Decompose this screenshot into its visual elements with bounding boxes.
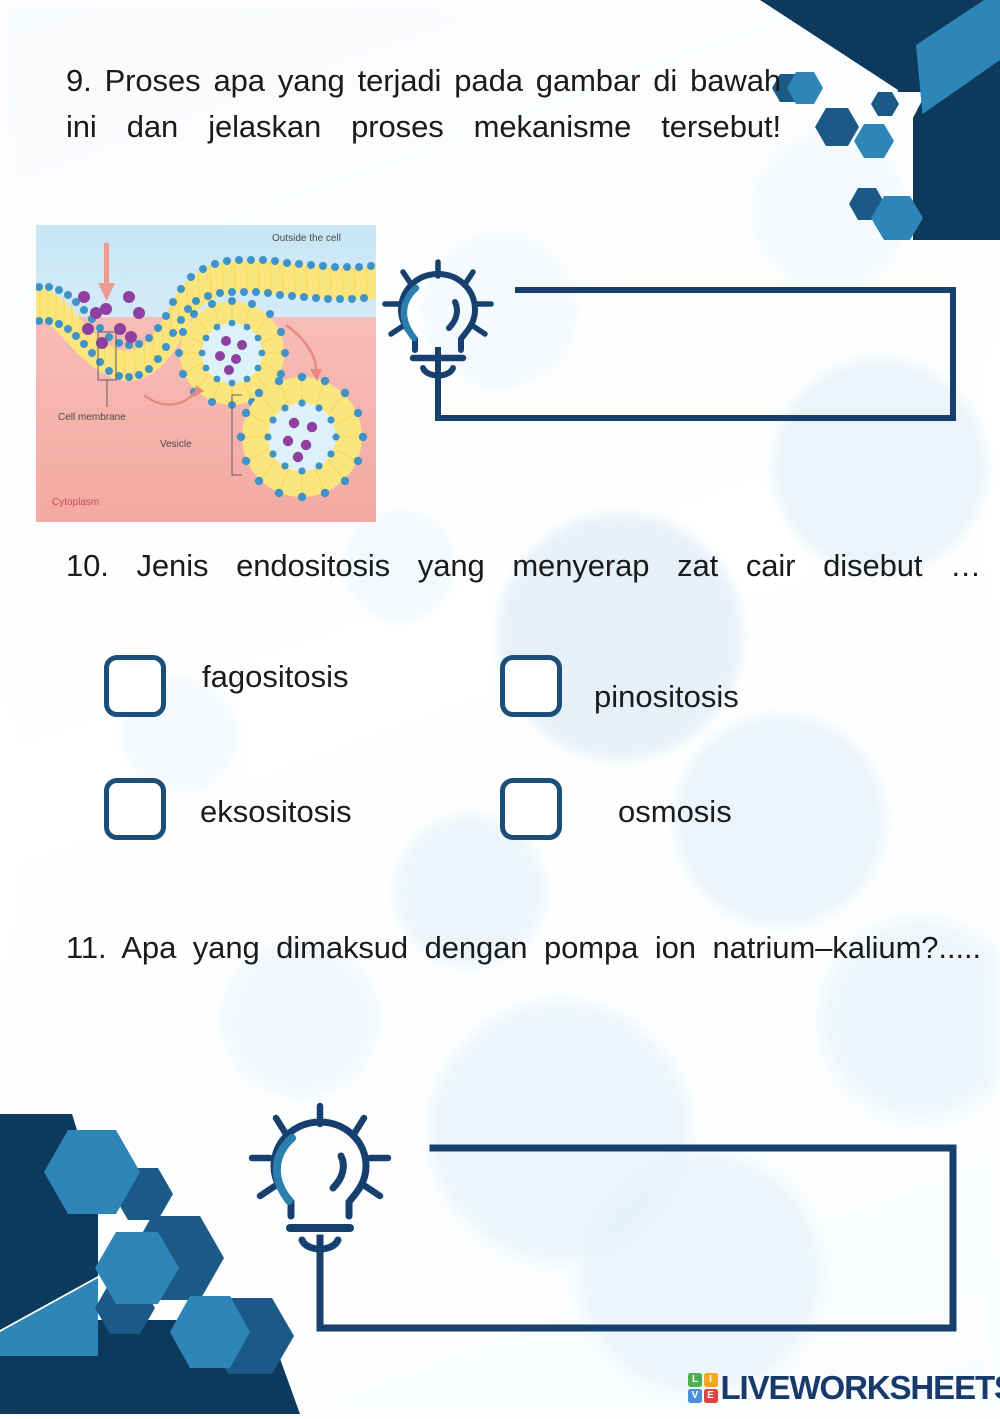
checkbox-pinositosis[interactable]: [500, 655, 562, 717]
lightbulb-icon: [252, 1106, 388, 1249]
checkbox-osmosis[interactable]: [500, 778, 562, 840]
option-fagositosis[interactable]: fagositosis: [104, 655, 500, 717]
liveworksheets-logo[interactable]: L I V E LIVEWORKSHEETS: [688, 1369, 1000, 1407]
logo-tile-v: V: [688, 1389, 702, 1403]
diagram-label-outside: Outside the cell: [272, 233, 341, 244]
options-grid: fagositosis pinositosis eksositosis osmo…: [104, 655, 894, 840]
option-row: fagositosis pinositosis: [104, 655, 894, 717]
option-pinositosis[interactable]: pinositosis: [500, 655, 894, 717]
logo-tile-i: I: [704, 1373, 718, 1387]
question-9-text: 9. Proses apa yang terjadi pada gambar d…: [66, 58, 781, 195]
logo-tile-l: L: [688, 1373, 702, 1387]
question-11-text: 11. Apa yang dimaksud dengan pompa ion n…: [66, 925, 981, 1016]
logo-tiles: L I V E: [688, 1373, 718, 1403]
diagram-label-vesicle: Vesicle: [160, 439, 192, 450]
lightbulb-icon: [385, 262, 491, 376]
checkbox-fagositosis[interactable]: [104, 655, 166, 717]
option-label-fagositosis: fagositosis: [202, 659, 348, 695]
answer-assembly-q9: [383, 258, 958, 454]
logo-tile-e: E: [704, 1389, 718, 1403]
option-label-eksositosis: eksositosis: [200, 794, 352, 830]
diagram-label-membrane: Cell membrane: [58, 412, 126, 423]
option-row: eksositosis osmosis: [104, 778, 894, 840]
option-eksositosis[interactable]: eksositosis: [104, 778, 500, 840]
answer-assembly-q11: [238, 1100, 958, 1350]
question-10-text: 10. Jenis endositosis yang menyerap zat …: [66, 543, 981, 634]
option-osmosis[interactable]: osmosis: [500, 778, 894, 840]
option-label-osmosis: osmosis: [618, 794, 732, 830]
option-label-pinositosis: pinositosis: [594, 679, 739, 715]
diagram-label-cytoplasm: Cytoplasm: [52, 497, 99, 508]
checkbox-eksositosis[interactable]: [104, 778, 166, 840]
logo-wordmark: LIVEWORKSHEETS: [721, 1369, 1000, 1407]
endocytosis-diagram: Outside the cell Cell membrane Vesicle C…: [36, 225, 376, 522]
